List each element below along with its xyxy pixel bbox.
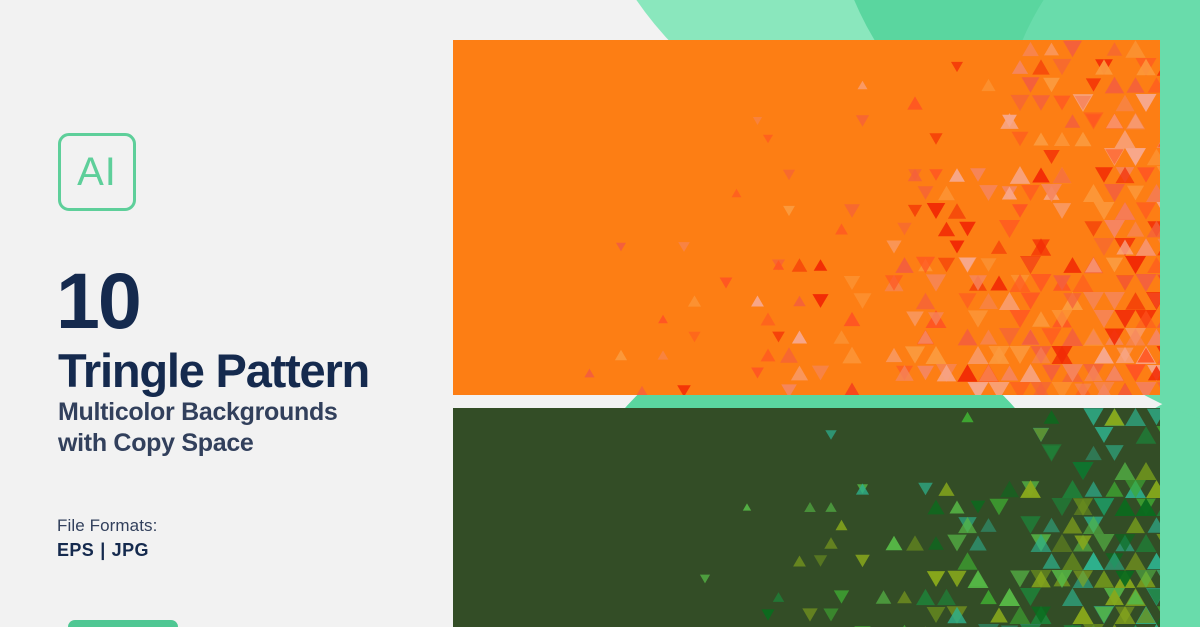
file-formats-value: EPS|JPG [57, 540, 149, 561]
page-title: Tringle Pattern [58, 347, 369, 394]
promo-banner: AI 10 Tringle Pattern Multicolor Backgro… [0, 0, 1200, 627]
page-subtitle: Multicolor Backgroundswith Copy Space [58, 397, 438, 460]
ai-format-badge: AI [58, 133, 136, 211]
format-jpg: JPG [112, 540, 149, 560]
preview-panel-green [453, 408, 1160, 627]
file-formats-label: File Formats: [57, 516, 157, 536]
info-column: AI 10 Tringle Pattern Multicolor Backgro… [0, 0, 453, 627]
ai-badge-label: AI [77, 152, 117, 192]
format-separator: | [94, 540, 111, 560]
cta-button[interactable] [68, 620, 178, 627]
item-count: 10 [56, 263, 140, 338]
format-eps: EPS [57, 540, 94, 560]
preview-panel-orange [453, 40, 1160, 395]
